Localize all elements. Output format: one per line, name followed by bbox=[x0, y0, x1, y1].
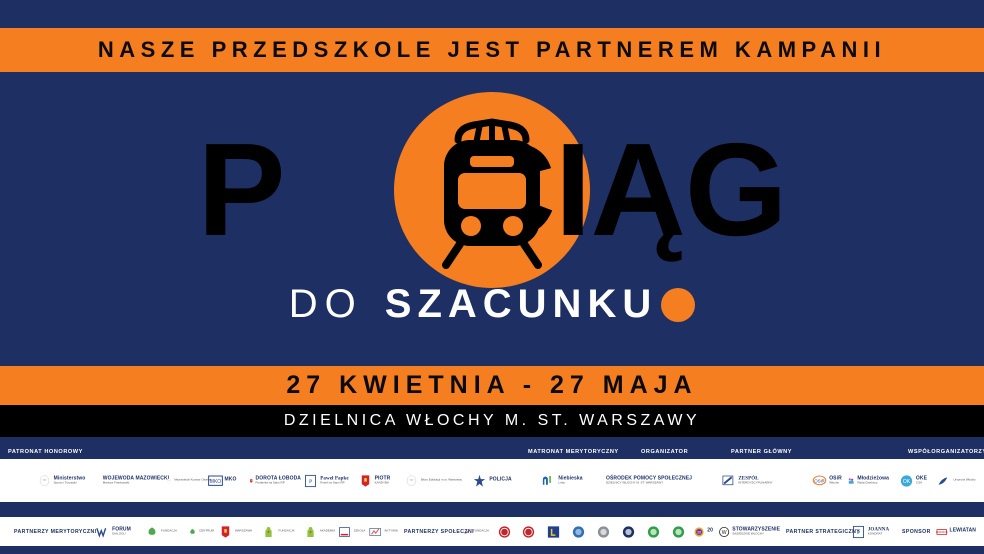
partner-logo-niebieska-linia[interactable]: NiebieskaLinia bbox=[529, 473, 595, 488]
stowarzyszenie-sasiedzkie-wlochy-mark: W bbox=[718, 524, 730, 539]
badge-red-1-mark bbox=[497, 524, 512, 539]
section-label-row2-1: PARTNERZY SPOŁECZNI bbox=[404, 529, 474, 535]
aps-policja-mark bbox=[472, 473, 487, 488]
partner-logo-text: STOWARZYSZENIESĄSIEDZKIE WŁOCHY bbox=[732, 527, 780, 536]
partner-logo-warszawa-biuro-edukacji[interactable]: Biuro Edukacji m.st. Warszawy bbox=[399, 473, 467, 488]
ministerstwo-sportu-i-turystyki-mark bbox=[37, 473, 52, 488]
partner-logo-line2: FUNDACJA bbox=[278, 530, 294, 533]
badge-blue-yellow-mark bbox=[546, 524, 561, 539]
piotr-kandyba-mark bbox=[358, 473, 373, 488]
partner-row1-strip: MinisterstwoSportu i TurystykiWOJEWODA M… bbox=[0, 459, 984, 502]
pawel-papke-mark: P bbox=[303, 473, 318, 488]
section-label-0: PATRONAT HONOROWY bbox=[8, 449, 83, 455]
partner-logo-text: JOANNAKONDRAT bbox=[868, 527, 889, 536]
section-label-4: WSPÓŁORGANIZATORZY bbox=[908, 449, 984, 455]
partner-logo-text: DOROTA ŁOBODAPosłanka na Sejm RP bbox=[256, 476, 301, 485]
partner-logo-text: POLICJA bbox=[489, 478, 511, 484]
partner-logo-line2: Rada Dzielnicy bbox=[857, 482, 889, 485]
partner-logo-badge-red-2[interactable] bbox=[518, 524, 538, 539]
partner-logo-badge-blue-yellow[interactable] bbox=[543, 524, 563, 539]
dorota-loboda-mark bbox=[249, 473, 254, 488]
partner-logo-line2: Mariusz Frankowski bbox=[103, 482, 169, 485]
partner-logo-badge-green-1[interactable] bbox=[643, 524, 663, 539]
partner-logo-text: MKO bbox=[225, 478, 237, 484]
partner-logo-badge-green-2[interactable] bbox=[668, 524, 688, 539]
partner-logo-line2: CENTRUM bbox=[199, 530, 214, 533]
niebieska-linia-mark bbox=[541, 473, 556, 488]
subtitle-dot bbox=[661, 288, 695, 322]
top-banner: NASZE PRZEDSZKOLE JEST PARTNEREM KAMPANI… bbox=[0, 28, 984, 72]
partner-logo-badge-gold-20[interactable]: 2020 bbox=[693, 524, 713, 539]
ursus-wlochy-mark bbox=[936, 473, 951, 488]
partner-logo-line1: MKO bbox=[225, 478, 237, 484]
partner-logo-dorota-loboda[interactable]: DOROTA ŁOBODAPosłanka na Sejm RP bbox=[249, 473, 301, 488]
partner-logo-oke-csa[interactable]: OKOKECSA bbox=[893, 473, 933, 488]
partner-logo-lewiatan-sponsor[interactable]: LEWIATANLEWIATAN bbox=[936, 524, 976, 539]
partner-logo-text: Biuro Edukacji m.st. Warszawy bbox=[421, 479, 462, 482]
partner-logo-stowarzyszenie-sasiedzkie-wlochy[interactable]: WSTOWARZYSZENIESĄSIEDZKIE WŁOCHY bbox=[718, 524, 780, 539]
section-label-1: MATRONAT MERYTORYCZNY bbox=[528, 449, 619, 455]
akademia-rozwoju-mark bbox=[303, 524, 318, 539]
partner-logo-mko-logo[interactable]: MKOMKO bbox=[196, 473, 248, 488]
partner-logo-text: MinisterstwoSportu i Turystyki bbox=[54, 476, 86, 485]
partner-logo-line2: WARSZAWA bbox=[235, 530, 252, 533]
partner-logo-text: FORUMDIALOGU bbox=[112, 527, 131, 536]
partner-logo-line2: AKADEMIA bbox=[320, 530, 336, 533]
svg-text:MKO: MKO bbox=[209, 478, 221, 484]
osir-wlochy-mark: OSiR bbox=[812, 473, 827, 488]
partner-logo-line1: 20 bbox=[707, 529, 713, 535]
partner-logo-text: AKTYWNI bbox=[384, 530, 398, 533]
partner-logo-line2: FUNDACJA bbox=[161, 530, 177, 533]
partner-logo-fundacja-dzieci[interactable]: FUNDACJA bbox=[258, 524, 298, 539]
partner-logo-text: CENTRUM bbox=[199, 530, 214, 533]
subtitle-bold-word: SZACUNKU bbox=[385, 282, 657, 327]
warszawa-biuro-edukacji-mark bbox=[404, 473, 419, 488]
partner-logo-line2: KONDRAT bbox=[868, 533, 889, 536]
aktywni-rodzice-mark bbox=[368, 524, 382, 539]
badge-grey-mark bbox=[596, 524, 611, 539]
section-label-3: PARTNER GŁÓWNY bbox=[731, 449, 792, 455]
partner-logo-line2: Linia bbox=[558, 482, 582, 485]
partner-logo-line2: SZKOŁA bbox=[354, 530, 366, 533]
partner-logo-line2: Posłanka na Sejm RP bbox=[256, 482, 301, 485]
partner-logo-ministerstwo-sportu-i-turystyki[interactable]: MinisterstwoSportu i Turystyki bbox=[18, 473, 104, 488]
partner-logo-ursus-wlochy[interactable]: Ursynów Włochy bbox=[936, 473, 976, 488]
partner-logo-akademia-rozwoju[interactable]: AKADEMIA bbox=[302, 524, 336, 539]
section-label-2: ORGANIZATOR bbox=[641, 449, 688, 455]
svg-text:W: W bbox=[722, 530, 727, 536]
partner-logo-pawel-papke[interactable]: PPaweł PapkePoseł na Sejm RP bbox=[300, 473, 352, 488]
szkola-podstawowa-mark bbox=[337, 524, 352, 539]
partner-logo-text: SZKOŁA bbox=[354, 530, 366, 533]
partner-logo-aps-policja[interactable]: POLICJA bbox=[461, 473, 523, 488]
partner-logo-text: 20 bbox=[707, 529, 713, 535]
partner-logo-osrodek-pomocy-spolecznej[interactable]: OŚRODEK POMOCY SPOŁECZNEJDZIELNICY WŁOCH… bbox=[612, 473, 684, 488]
partner-logo-warszawskie-centrum[interactable]: WARSZAWA bbox=[216, 524, 254, 539]
fundacja-dzieci-mark bbox=[261, 524, 276, 539]
partner-logo-forum-dialogu[interactable]: FORUMDIALOGU bbox=[92, 524, 134, 539]
date-text: 27 KWIETNIA - 27 MAJA bbox=[286, 371, 697, 400]
partner-logo-line2: Sportu i Turystyki bbox=[54, 482, 86, 485]
partner-logo-text: Ursynów Włochy bbox=[953, 479, 975, 482]
partner-logo-badge-red-1[interactable] bbox=[494, 524, 514, 539]
svg-text:20: 20 bbox=[697, 530, 701, 534]
date-bar: 27 KWIETNIA - 27 MAJA bbox=[0, 366, 984, 405]
partner-logo-text: PIOTRKANDYBA bbox=[375, 476, 391, 485]
fundacja-zielona-mark bbox=[145, 524, 159, 539]
subtitle-light-word: DO bbox=[289, 282, 363, 327]
badge-gold-20-mark: 20 bbox=[693, 524, 705, 539]
top-banner-text: NASZE PRZEDSZKOLE JEST PARTNEREM KAMPANI… bbox=[98, 37, 886, 63]
subtitle: DO SZACUNKU bbox=[0, 282, 984, 327]
partner-row2-strip: FORUMDIALOGUFUNDACJACENTRUMWARSZAWAFUNDA… bbox=[0, 517, 984, 546]
svg-text:P: P bbox=[309, 478, 312, 484]
partner-logo-line2: CSA bbox=[916, 482, 927, 485]
partner-logo-text: LEWIATAN bbox=[950, 529, 976, 535]
section-label-row2-2: PARTNER STRATEGICZNY bbox=[786, 529, 860, 535]
partner-logo-line2: SĄSIEDZKIE WŁOCHY bbox=[732, 533, 780, 536]
partner-logo-text: OKECSA bbox=[916, 476, 927, 485]
partner-logo-text: WARSZAWA bbox=[235, 530, 252, 533]
partner-logo-piotr-kandyba[interactable]: PIOTRKANDYBA bbox=[349, 473, 399, 488]
partner-logo-line2: AKTYWNI bbox=[384, 530, 398, 533]
partner-logo-aktywni-rodzice[interactable]: AKTYWNI bbox=[368, 524, 398, 539]
svg-text:LEWIATAN: LEWIATAN bbox=[936, 531, 948, 534]
partner-logo-line2: DZIELNICY WŁOCHY M. ST. WARSZAWY bbox=[606, 482, 692, 485]
partner-logo-zespol-interdyscyplinarny[interactable]: ZESPÓŁINTERDYSCYPLINARNY bbox=[709, 473, 785, 488]
partner-logo-wojewoda-mazowiecki[interactable]: WOJEWODA MAZOWIECKIMariusz Frankowski bbox=[104, 473, 166, 488]
logo-word-row: P CIĄG bbox=[0, 90, 984, 290]
partner-logo-badge-grey[interactable] bbox=[593, 524, 613, 539]
partner-logo-text: ZESPÓŁINTERDYSCYPLINARNY bbox=[738, 476, 772, 485]
lewiatan-sponsor-mark: LEWIATAN bbox=[936, 524, 948, 539]
partner-logo-osir-wlochy[interactable]: OSiROSiRWłochy bbox=[808, 473, 846, 488]
partner-logo-text: FUNDACJA bbox=[161, 530, 177, 533]
partner-logo-line2: Włochy bbox=[829, 482, 842, 485]
partner-logo-text: FUNDACJA bbox=[278, 530, 294, 533]
oke-csa-mark: OK bbox=[899, 473, 914, 488]
badge-green-1-mark bbox=[646, 524, 661, 539]
partner-logo-line2: Ursynów Włochy bbox=[953, 479, 975, 482]
logo-word-left: P bbox=[197, 124, 284, 256]
partner-logo-text: WOJEWODA MAZOWIECKIMariusz Frankowski bbox=[103, 476, 169, 485]
partner-logo-centrum-pomocy[interactable]: CENTRUM bbox=[188, 524, 214, 539]
section-label-row2-3: SPONSOR bbox=[902, 529, 931, 535]
partner-logo-text: OSiRWłochy bbox=[829, 476, 842, 485]
badge-blue-1-mark bbox=[571, 524, 586, 539]
partner-logo-fundacja-zielona[interactable]: FUNDACJA bbox=[145, 524, 177, 539]
svg-text:OK: OK bbox=[903, 478, 911, 484]
partner-logo-line1: POLICJA bbox=[489, 478, 511, 484]
place-text: DZIELNICA WŁOCHY M. ST. WARSZAWY bbox=[284, 412, 700, 430]
tram-icon bbox=[422, 110, 562, 270]
partner-logo-text: AKADEMIA bbox=[320, 530, 336, 533]
mlodziezowa-rada-mark bbox=[847, 473, 855, 488]
partner-logo-szkola-podstawowa[interactable]: SZKOŁA bbox=[336, 524, 366, 539]
partner-logo-mlodziezowa-rada[interactable]: MłodzieżowaRada Dzielnicy bbox=[847, 473, 889, 488]
partner-logo-text: Paweł PapkePoseł na Sejm RP bbox=[320, 476, 348, 485]
partner-logo-badge-navy[interactable] bbox=[618, 524, 638, 539]
forum-dialogu-mark bbox=[95, 524, 110, 539]
centrum-pomocy-mark bbox=[188, 524, 197, 539]
warszawskie-centrum-mark bbox=[218, 524, 233, 539]
section-label-row2-0: PARTNERZY MERYTORYCZNI bbox=[14, 529, 96, 535]
partner-logo-text: NiebieskaLinia bbox=[558, 476, 582, 485]
partner-logo-line2: INTERDYSCYPLINARNY bbox=[738, 482, 772, 485]
place-bar: DZIELNICA WŁOCHY M. ST. WARSZAWY bbox=[0, 405, 984, 437]
badge-navy-mark bbox=[621, 524, 636, 539]
kuratorium-oswiaty-mark bbox=[166, 473, 172, 488]
partner-logo-text: MłodzieżowaRada Dzielnicy bbox=[857, 476, 889, 485]
partner-logo-text: OŚRODEK POMOCY SPOŁECZNEJDZIELNICY WŁOCH… bbox=[606, 476, 692, 485]
badge-green-2-mark bbox=[671, 524, 686, 539]
partner-logo-line1: LEWIATAN bbox=[950, 529, 976, 535]
svg-text:OSiR: OSiR bbox=[814, 478, 824, 483]
mko-logo-mark: MKO bbox=[208, 473, 223, 488]
badge-red-2-mark bbox=[521, 524, 536, 539]
partner-logo-line2: FUNDACJA bbox=[473, 530, 489, 533]
partner-logo-line2: KANDYBA bbox=[375, 482, 391, 485]
zespol-interdyscyplinarny-mark bbox=[721, 473, 736, 488]
partner-logo-badge-blue-1[interactable] bbox=[568, 524, 588, 539]
campaign-poster: NASZE PRZEDSZKOLE JEST PARTNEREM KAMPANI… bbox=[0, 0, 984, 554]
partner-logo-line2: Poseł na Sejm RP bbox=[320, 482, 348, 485]
partner-logo-text: FUNDACJA bbox=[473, 530, 489, 533]
partner-logo-line2: DIALOGU bbox=[112, 533, 131, 536]
partner-logo-line2: Biuro Edukacji m.st. Warszawy bbox=[421, 479, 462, 482]
